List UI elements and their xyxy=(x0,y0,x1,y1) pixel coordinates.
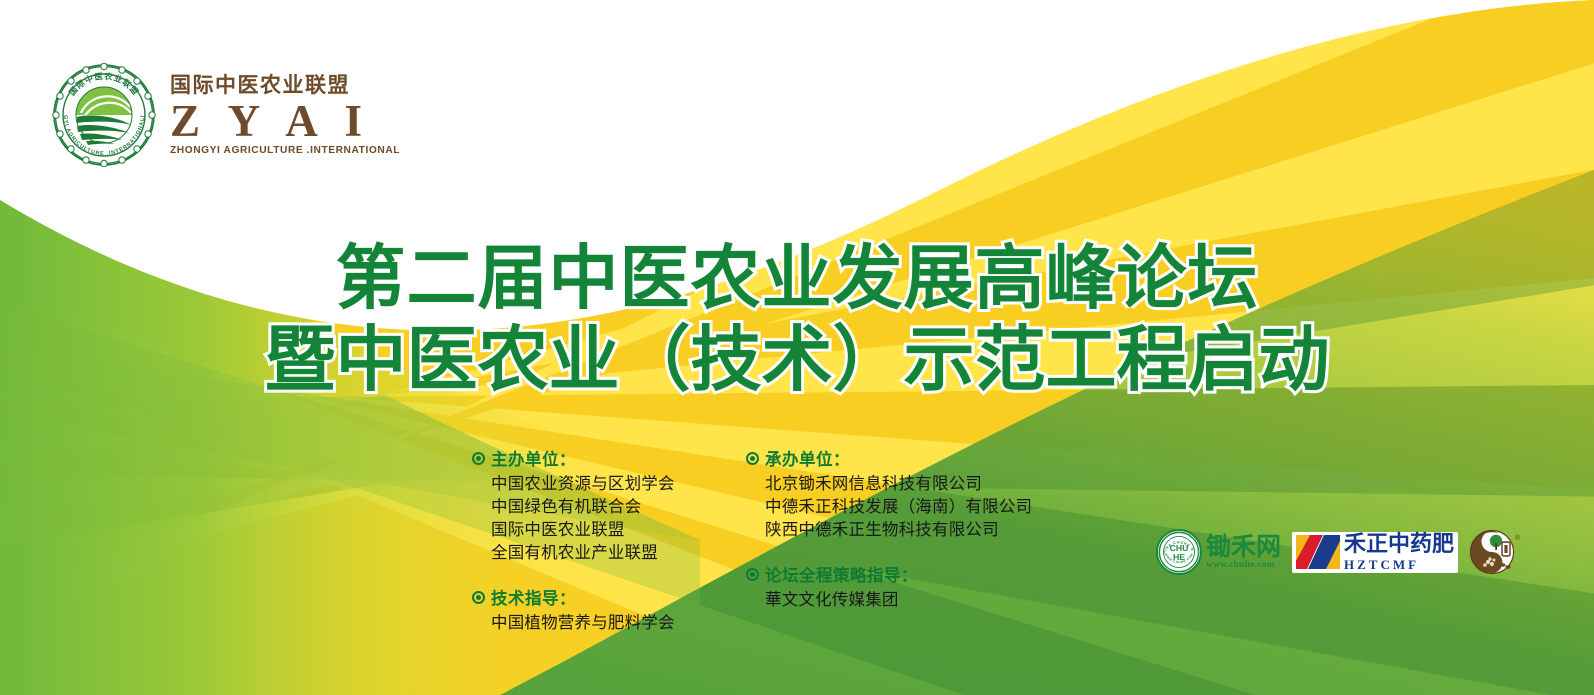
credit-group-label: 技术指导： xyxy=(491,585,576,609)
chuhe-circle-icon: CHINA CHUHE NET WWW.CHUHE.COM CHU HE xyxy=(1156,529,1202,575)
chuhe-wordmark: 锄禾网 www.chuhe.com xyxy=(1206,534,1281,571)
credit-item: 華文文化传媒集团 xyxy=(765,588,1036,611)
credit-group-co-organizers: 承办单位： 北京锄禾网信息科技有限公司 中德禾正科技发展（海南）有限公司 陕西中… xyxy=(746,446,1036,541)
credit-item: 国际中医农业联盟 xyxy=(491,518,730,541)
credit-item: 全国有机农业产业联盟 xyxy=(491,541,730,564)
credit-group-strategic-guidance: 论坛全程策略指导： 華文文化传媒集团 xyxy=(746,562,1036,611)
zyai-emblem-icon: 国际中医农业联盟 ZHONGYI AGRICULTURE .INTERNATIO… xyxy=(52,63,156,167)
organization-logo-lockup: 国际中医农业联盟 ZHONGYI AGRICULTURE .INTERNATIO… xyxy=(52,63,407,167)
credit-item: 中国植物营养与肥料学会 xyxy=(491,611,730,634)
bullet-icon xyxy=(472,591,485,604)
credit-group-header: 主办单位： xyxy=(472,446,730,470)
poster-canvas: 国际中医农业联盟 ZHONGYI AGRICULTURE .INTERNATIO… xyxy=(0,0,1594,695)
hzt-name-en: HZTCMF xyxy=(1344,558,1454,571)
svg-text:HE: HE xyxy=(1173,552,1185,562)
hzt-name-cn: 禾正中药肥 xyxy=(1344,534,1454,556)
credits-column-right: 承办单位： 北京锄禾网信息科技有限公司 中德禾正科技发展（海南）有限公司 陕西中… xyxy=(746,446,1036,634)
credit-group-label: 承办单位： xyxy=(765,446,850,470)
credit-group-header: 技术指导： xyxy=(472,585,730,609)
brand-acronym: Z Y A I xyxy=(170,99,371,144)
chuhe-name-cn: 锄禾网 xyxy=(1206,534,1281,559)
taiji-tree-icon: ® xyxy=(1469,528,1521,576)
credit-group-header: 承办单位： xyxy=(746,446,1036,470)
credit-group-technical-guidance: 技术指导： 中国植物营养与肥料学会 xyxy=(472,585,730,634)
credits-column-left: 主办单位： 中国农业资源与区划学会 中国绿色有机联合会 国际中医农业联盟 全国有… xyxy=(472,446,730,634)
sponsor-chuhe: CHINA CHUHE NET WWW.CHUHE.COM CHU HE 锄禾网… xyxy=(1156,529,1281,575)
credit-group-label: 论坛全程策略指导： xyxy=(765,562,918,586)
credit-item: 北京锄禾网信息科技有限公司 xyxy=(765,472,1036,495)
credit-item: 陕西中德禾正生物科技有限公司 xyxy=(765,518,1036,541)
registered-mark: ® xyxy=(1515,534,1521,542)
sponsor-logo-row: CHINA CHUHE NET WWW.CHUHE.COM CHU HE 锄禾网… xyxy=(1156,528,1521,576)
chuhe-url: www.chuhe.com xyxy=(1206,561,1281,571)
hzt-wordmark: 禾正中药肥 HZTCMF xyxy=(1344,534,1454,571)
brand-wordmark: 国际中医农业联盟 Z Y A I ZHONGYI AGRICULTURE .IN… xyxy=(170,75,407,156)
bullet-icon xyxy=(746,568,759,581)
credit-item: 中国绿色有机联合会 xyxy=(491,495,730,518)
hzt-slash-icon xyxy=(1296,535,1340,569)
sponsor-hzt: 禾正中药肥 HZTCMF xyxy=(1292,532,1458,573)
credit-item: 中德禾正科技发展（海南）有限公司 xyxy=(765,495,1036,518)
credit-group-label: 主办单位： xyxy=(491,446,576,470)
brand-name-cn: 国际中医农业联盟 xyxy=(170,75,350,96)
credit-group-organizers: 主办单位： 中国农业资源与区划学会 中国绿色有机联合会 国际中医农业联盟 全国有… xyxy=(472,446,730,564)
credit-item: 中国农业资源与区划学会 xyxy=(491,472,730,495)
brand-name-en: ZHONGYI AGRICULTURE .INTERNATIONAL xyxy=(170,145,400,156)
credit-group-header: 论坛全程策略指导： xyxy=(746,562,1036,586)
bullet-icon xyxy=(472,452,485,465)
bullet-icon xyxy=(746,452,759,465)
sponsor-taiji-tree: ® xyxy=(1469,528,1521,576)
credits-block: 主办单位： 中国农业资源与区划学会 中国绿色有机联合会 国际中医农业联盟 全国有… xyxy=(472,446,1036,634)
